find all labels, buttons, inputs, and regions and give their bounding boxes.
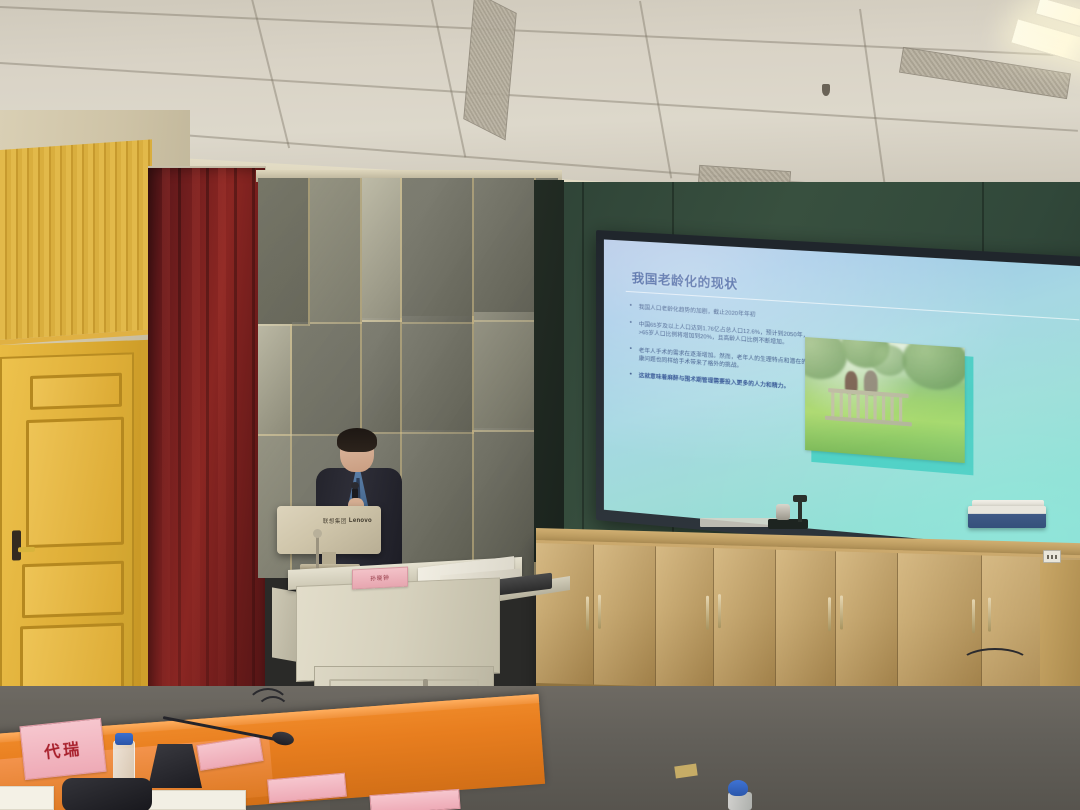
door-panel-top — [30, 373, 122, 410]
slide-title: 我国老龄化的现状 — [632, 267, 738, 293]
floor-water-bottle-cap — [728, 780, 748, 796]
door-panel-middle — [26, 417, 124, 548]
table-document — [0, 786, 54, 810]
document-camera-head — [776, 504, 790, 520]
cabinet-door[interactable] — [594, 545, 656, 687]
cabinet-door[interactable] — [656, 546, 714, 688]
slide-photo — [805, 337, 965, 463]
cabinet-door[interactable] — [898, 553, 982, 695]
table-water-bottle-cap — [115, 733, 133, 745]
slide-bullet: 中国65岁及以上人口达到1.76亿占总人口12.6%，预计到2050年，>65岁… — [630, 320, 814, 349]
podium-side-panel — [272, 587, 298, 662]
wall-dark-column — [534, 180, 564, 562]
cabinet-door[interactable] — [536, 543, 594, 685]
speaker-hair — [337, 428, 377, 452]
ceiling-light-right — [1010, 18, 1080, 68]
slide-bullet-list: 我国人口老龄化趋势的加剧，截止2020年年初 中国65岁及以上人口达到1.76亿… — [630, 303, 814, 402]
cabinet-door[interactable] — [836, 551, 898, 693]
cabinet-door[interactable] — [714, 548, 776, 690]
power-outlet[interactable] — [1043, 550, 1061, 563]
podium-name-card-text: 孙晓钟 — [353, 573, 407, 584]
monitor-brand-logo: 联想集团 Lenovo — [323, 517, 372, 525]
table-name-card: 代瑞 — [19, 718, 106, 780]
conference-room-scene: 我国老龄化的现状 我国人口老龄化趋势的加剧，截止2020年年初 中国65岁及以上… — [0, 0, 1080, 810]
document-camera-arm — [798, 500, 802, 522]
lenovo-monitor[interactable]: 联想集团 Lenovo — [277, 506, 381, 554]
storage-cabinets[interactable] — [536, 540, 1080, 706]
wood-slat-panel — [0, 139, 152, 345]
cabinet-door[interactable] — [776, 550, 836, 692]
door-frame — [0, 340, 150, 745]
table-name-card-text: 代瑞 — [22, 733, 104, 765]
table-dark-equipment — [62, 778, 152, 810]
slide-bullet: 老年人手术的需求在逐渐增加。然而，老年人的生理特点和潜在的健康问题也同样给手术带… — [630, 346, 814, 376]
monitor-brand-name: Lenovo — [349, 518, 372, 524]
cabinet-tray — [700, 518, 776, 527]
slide-photo-bench — [828, 388, 909, 431]
stage-curtain — [148, 168, 265, 758]
door-panel-lower — [22, 561, 124, 619]
slide-bullet: 我国人口老龄化趋势的加剧，截止2020年年初 — [630, 303, 814, 323]
door-leaf[interactable] — [0, 352, 134, 743]
monitor-cjk-text: 联想集团 — [323, 517, 347, 525]
printer[interactable] — [968, 506, 1046, 528]
right-wood-wall — [1040, 560, 1080, 690]
podium-name-card: 孙晓钟 — [352, 567, 408, 590]
air-vent-left — [463, 0, 516, 141]
slide-bullet: 这就意味着麻醉与围术期管理需要投入更多的人力和精力。 — [630, 371, 814, 393]
document-camera-base — [768, 519, 808, 529]
door-handle[interactable] — [12, 530, 21, 560]
sprinkler-head — [822, 84, 830, 96]
